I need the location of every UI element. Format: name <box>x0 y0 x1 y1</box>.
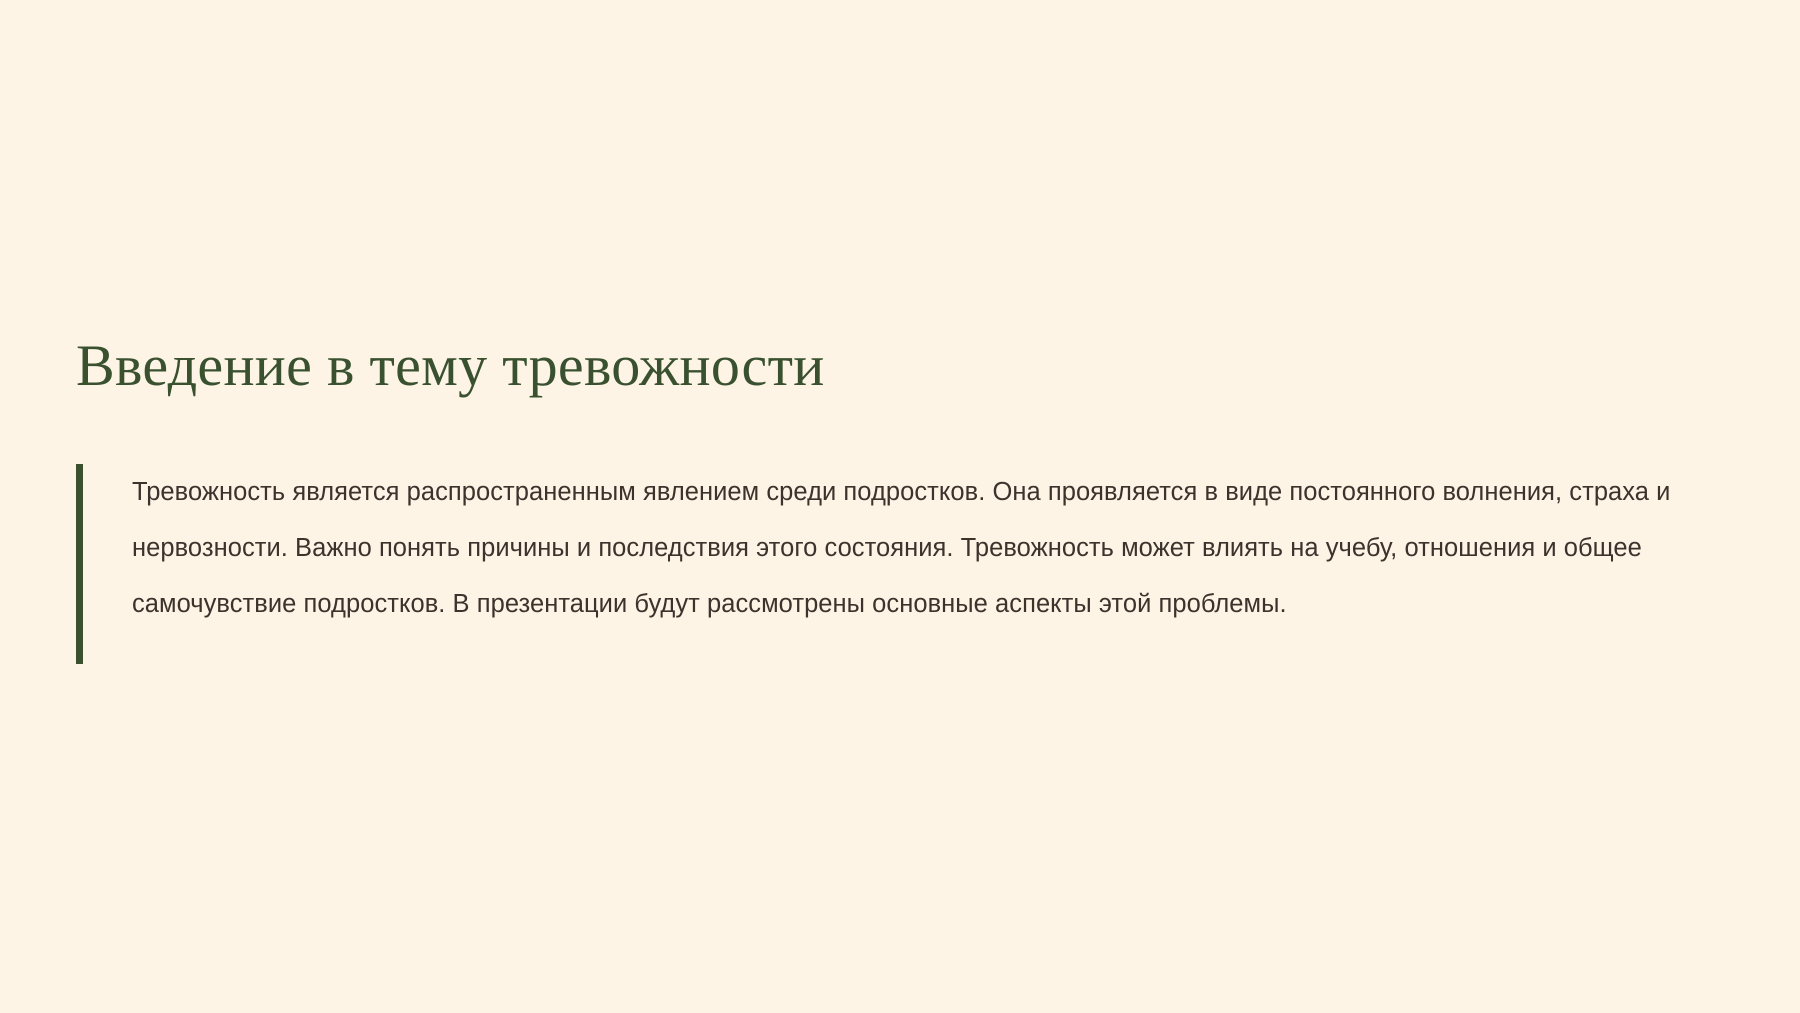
presentation-slide: Введение в тему тревожности Тревожность … <box>0 0 1800 1013</box>
accent-bar <box>76 464 83 664</box>
slide-title: Введение в тему тревожности <box>76 334 1716 399</box>
slide-body-text: Тревожность является распространенным яв… <box>83 464 1716 664</box>
slide-body-block: Тревожность является распространенным яв… <box>76 464 1716 664</box>
